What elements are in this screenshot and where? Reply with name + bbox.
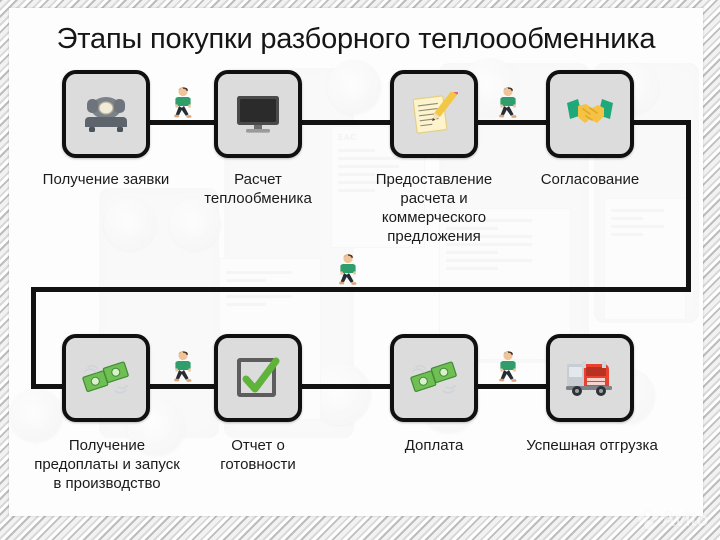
step-box-2-monitor[interactable] (214, 70, 302, 158)
step-label-5: Получение предоплаты и запуск в производ… (9, 436, 205, 493)
walking-person-icon-1 (172, 86, 194, 120)
step-box-8-truck[interactable] (546, 334, 634, 422)
step-label-4-line1: Согласование (514, 170, 666, 189)
telephone-icon (83, 93, 129, 135)
avito-logo-icon (638, 511, 658, 531)
walking-person-icon-2 (497, 86, 519, 120)
step-label-8: Успешная отгрузка (499, 436, 685, 455)
connector-left-down (31, 287, 36, 389)
step-label-3: Предоставление расчета и коммерческого п… (339, 170, 529, 246)
step-box-6-checkbox[interactable] (214, 334, 302, 422)
step-label-3-line2: расчета и (339, 189, 529, 208)
step-label-3-line1: Предоставление (339, 170, 529, 189)
poster-card: EAC (9, 8, 703, 516)
step-label-1: Получение заявки (16, 170, 196, 189)
poster-title: Этапы покупки разборного теплоообменника (9, 22, 703, 56)
step-label-4: Согласование (514, 170, 666, 189)
connector-7-8 (466, 384, 546, 389)
memo-pencil-icon (410, 92, 458, 136)
step-label-6-line1: Отчет о (205, 436, 311, 455)
connector-5-6 (144, 384, 214, 389)
step-label-7: Доплата (369, 436, 499, 455)
step-box-7-money[interactable] (390, 334, 478, 422)
handshake-icon (566, 95, 614, 133)
money-with-wings-icon (410, 357, 458, 399)
step-label-5-line3: в производство (9, 474, 205, 493)
step-label-1-line1: Получение заявки (16, 170, 196, 189)
walking-person-icon-3 (337, 253, 359, 287)
step-label-8-line1: Успешная отгрузка (499, 436, 685, 455)
avito-watermark-text: Avito (661, 509, 708, 532)
truck-icon (565, 358, 615, 398)
step-label-3-line3: коммерческого (339, 208, 529, 227)
step-box-1-telephone[interactable] (62, 70, 150, 158)
screenshot-canvas: EAC (0, 0, 720, 540)
step-label-5-line2: предоплаты и запуск (9, 455, 205, 474)
step-label-6-line2: готовности (205, 455, 311, 474)
avito-watermark: Avito (638, 509, 708, 532)
step-label-7-line1: Доплата (369, 436, 499, 455)
step-label-2-line2: теплообменика (186, 189, 330, 208)
connector-1-2 (144, 120, 214, 125)
step-label-2: Расчет теплообменика (186, 170, 330, 208)
step-label-5-line1: Получение (9, 436, 205, 455)
step-label-2-line1: Расчет (186, 170, 330, 189)
money-with-wings-icon (82, 357, 130, 399)
connector-right-down (686, 120, 691, 292)
walking-person-icon-5 (497, 350, 519, 384)
walking-person-icon-4 (172, 350, 194, 384)
check-box-icon (235, 355, 281, 401)
connector-3-4 (466, 120, 546, 125)
step-box-5-money[interactable] (62, 334, 150, 422)
connector-row-bridge (31, 287, 691, 292)
step-box-3-memo[interactable] (390, 70, 478, 158)
step-box-4-handshake[interactable] (546, 70, 634, 158)
step-label-6: Отчет о готовности (205, 436, 311, 474)
monitor-icon (234, 93, 282, 135)
step-label-3-line4: предложения (339, 227, 529, 246)
